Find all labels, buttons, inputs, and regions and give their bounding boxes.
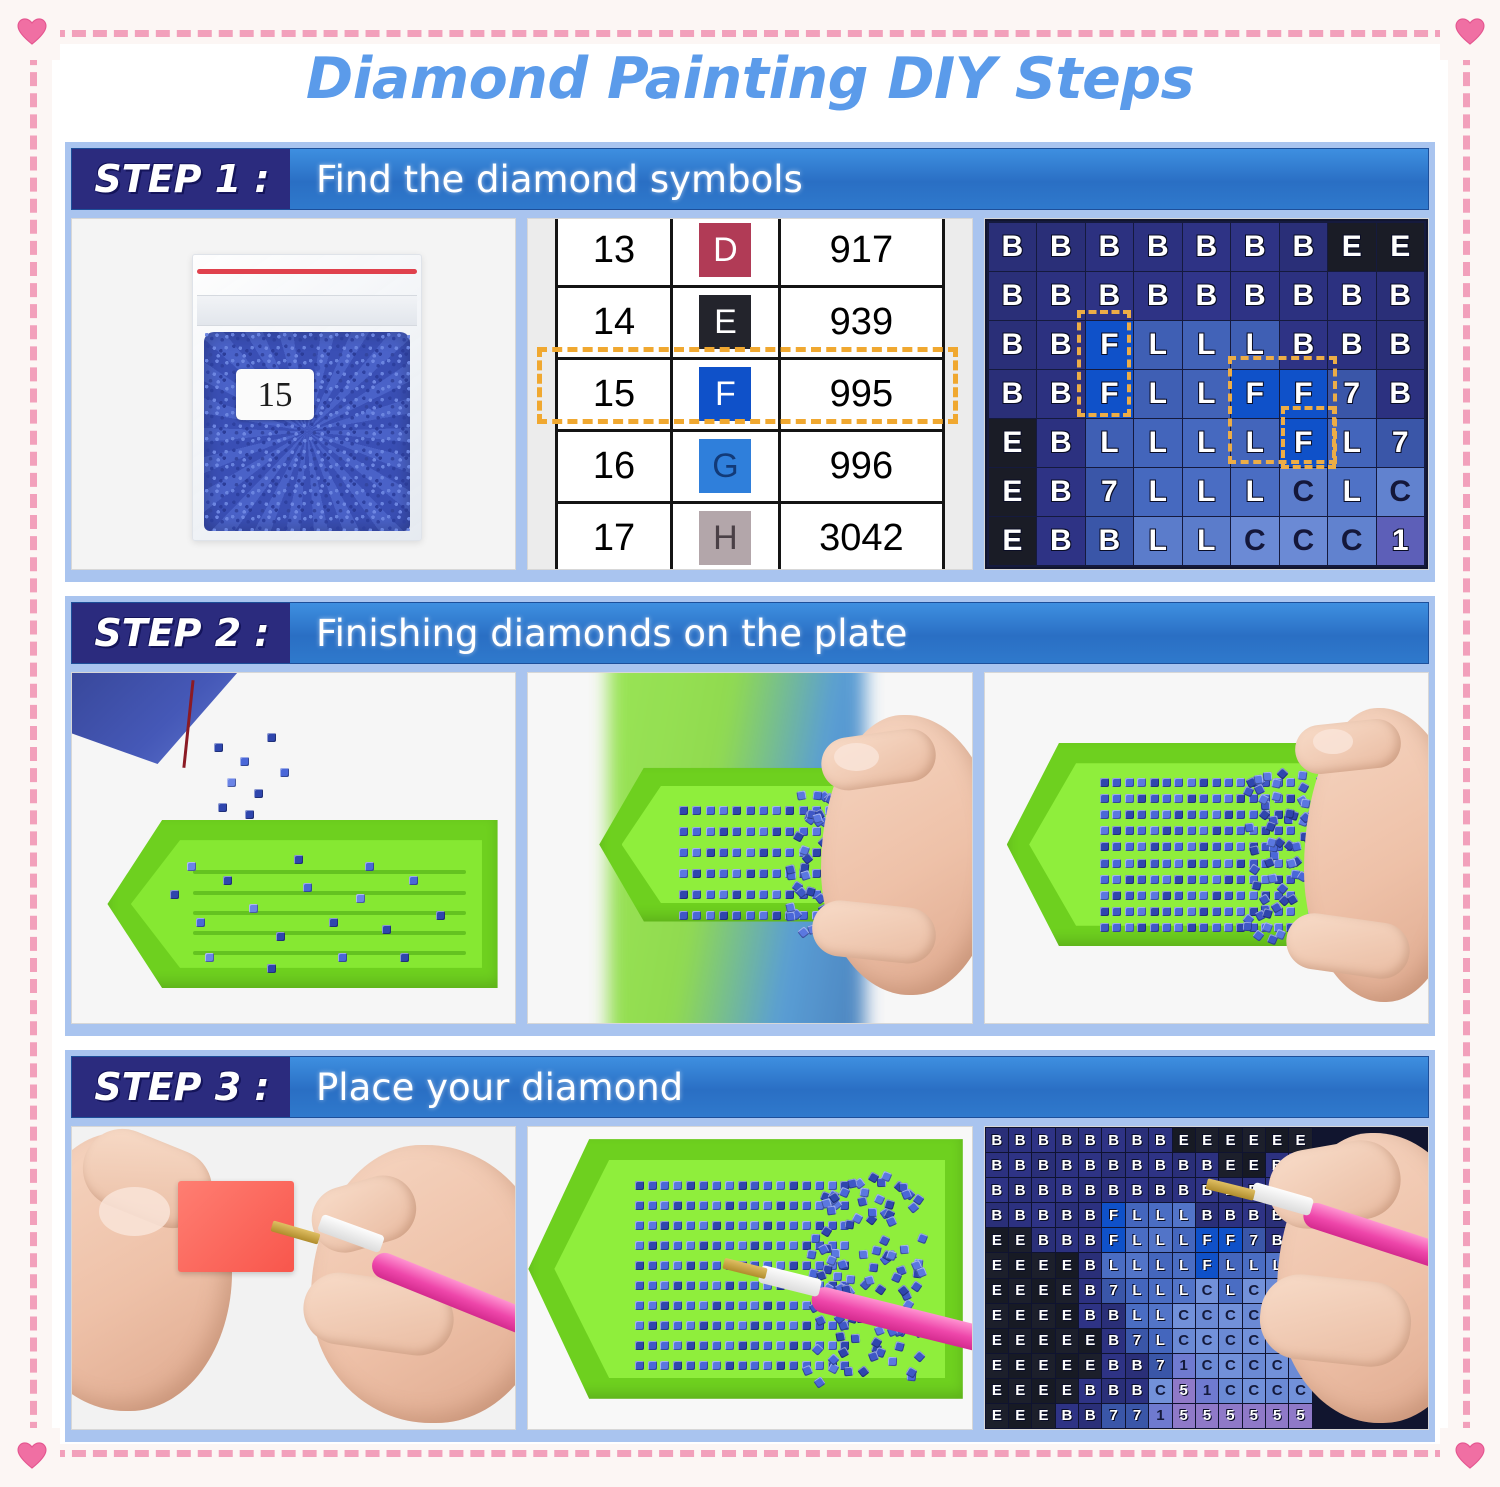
diamond-bead [1212,842,1221,851]
symbol-chart-photo[interactable]: 13D91714E93915F99516G99617H3042 [527,218,972,570]
diamond-bead [1187,810,1196,819]
step-1-badge: STEP 1 : [72,149,290,209]
diamond-bead [746,890,755,899]
diamond-bead [699,1301,708,1310]
diamond-bead [660,1321,669,1330]
diamond-bead [1112,907,1121,916]
diamond-bead [660,1281,669,1290]
diamond-bead [763,1241,772,1250]
canvas-grid-cell: L [1134,468,1181,516]
diamond-bead [1212,907,1221,916]
step-3-photo-row: BBBBBBBBEEEEEEBBBBBBBBBBEEBBBBBBBBBBBBBB… [71,1126,1429,1430]
diamond-bead [660,1181,669,1190]
diamond-bead [1286,794,1295,803]
diamond-bead [1254,774,1264,784]
diamond-bead [673,1181,682,1190]
canvas-grid-cell: 7 [1328,370,1375,418]
diamond-bead [699,1181,708,1190]
canvas-grid-cell: L [1183,517,1230,565]
diamond-bead [750,1201,759,1210]
diamond-bead [750,1361,759,1370]
diamond-bead [828,1341,837,1350]
diamond-bead [673,1321,682,1330]
diamond-bead [699,1221,708,1230]
diamond-bead [706,869,715,878]
diamond-bead [776,1301,785,1310]
diamond-bead [1100,875,1109,884]
diamond-bead [1150,891,1159,900]
diamond-bead [732,869,741,878]
step-1-title: Find the diamond symbols [290,149,803,209]
content-area: Diamond Painting DIY Steps STEP 1 : Find… [52,44,1448,1444]
diamond-bead [1297,771,1307,781]
diamond-bead [1100,778,1109,787]
chart-row-code: 3042 [781,517,942,560]
diamond-bead [1187,875,1196,884]
diamond-bead [1112,826,1121,835]
canvas-grid-cell: E [1377,223,1424,271]
diamond-bead [1150,826,1159,835]
diamond-bead [1150,923,1159,932]
diamond-bead [1212,891,1221,900]
diamond-bead [1112,891,1121,900]
diamond-bead [1212,875,1221,884]
diamond-bead [746,869,755,878]
diamond-bead [725,1281,734,1290]
canvas-grid-cell: C [1328,517,1375,565]
diamond-bead [648,1361,657,1370]
canvas-grid-cell: B [1134,223,1181,271]
fingernail [1313,729,1353,754]
diamond-bead [1137,842,1146,851]
diamond-bead [859,1187,869,1197]
diamond-bead [1137,810,1146,819]
diamond-bead [812,869,821,878]
diamond-bead [1212,778,1221,787]
diamond-bead [712,1281,721,1290]
canvas-grid-cell: C [1280,517,1327,565]
diamond-bead [692,911,701,920]
diamond-bead [1125,794,1134,803]
canvas-grid-cell: F [1280,419,1327,467]
canvas-grid-cell: L [1134,370,1181,418]
diamond-bead [1274,826,1283,835]
diamond-bead [679,911,688,920]
diamond-bead [1162,891,1171,900]
diamond-bead [1125,842,1134,851]
canvas-grid-cell: B [989,272,1036,320]
diamond-bead [759,911,768,920]
diamond-bead [833,1272,842,1281]
diamond-bead [1112,923,1121,932]
diamond-bead [719,911,728,920]
diamond-bead [763,1361,772,1370]
diamond-bead [763,1341,772,1350]
diamond-bead [789,1181,798,1190]
diamond-bead [648,1341,657,1350]
diamond-bead [686,1301,695,1310]
diamond-bead [1224,923,1233,932]
chart-row-symbol: G [673,432,781,501]
diamond-bead [1224,842,1233,851]
diamond-bead [679,890,688,899]
step-2-photo-row [71,672,1429,1024]
diamond-bead [763,1181,772,1190]
diamond-bead [1187,907,1196,916]
diamond-bead [785,848,794,857]
diamond-bead [1174,778,1183,787]
diamond-bead [699,1201,708,1210]
diamond-bead [719,848,728,857]
heart-icon-bottom-right [1455,1442,1485,1469]
diamond-bead [1137,907,1146,916]
symbol-chart-table: 13D91714E93915F99516G99617H3042 [555,219,945,569]
diamond-bead [776,1361,785,1370]
diamond-bead [772,848,781,857]
diamond-bead [635,1281,644,1290]
diamond-bead [1242,922,1252,932]
diamond-bead [789,1301,798,1310]
diamond-bead [679,827,688,836]
diamond-bead [772,869,781,878]
canvas-grid-cell: B [1037,468,1084,516]
diamond-bead [1187,891,1196,900]
diamond-bead [750,1341,759,1350]
pickup-diamond-photo[interactable] [527,1126,972,1430]
canvas-grid-cell: B [1280,272,1327,320]
diamond-bead [806,1249,816,1259]
diamond-bead [1125,891,1134,900]
diamond-bead [1100,891,1109,900]
canvas-grid-cell: L [1183,321,1230,369]
diamond-bead [835,1331,845,1341]
diamond-bead [1224,778,1233,787]
chart-row-number: 15 [558,360,673,429]
diamond-bead [648,1321,657,1330]
diamond-bead [1174,859,1183,868]
diamond-bead [686,1261,695,1270]
diamond-bead [1174,891,1183,900]
diamond-bead [712,1221,721,1230]
diamond-bead [1212,859,1221,868]
infographic-page: Diamond Painting DIY Steps STEP 1 : Find… [0,0,1500,1487]
diamond-bead [1150,907,1159,916]
diamond-bead [1199,875,1208,884]
canvas-grid-cell: B [1037,517,1084,565]
diamond-bead [759,890,768,899]
canvas-grid-cell: L [1134,419,1181,467]
diamond-bead [899,1245,909,1255]
shake-tray-photo[interactable] [527,672,972,1024]
chart-row: 15F995 [558,360,942,432]
diamond-bead [1224,826,1233,835]
diamond-bead [802,1201,811,1210]
diamond-bead [776,1241,785,1250]
diamond-bead [750,1181,759,1190]
diamond-bead [1125,810,1134,819]
diamond-bead [1100,794,1109,803]
diamond-bead [673,1261,682,1270]
diamond-bead [1291,841,1302,852]
diamond-bead [673,1301,682,1310]
diamond-bead [712,1241,721,1250]
diamond-bead [712,1181,721,1190]
diamond-bead [1187,923,1196,932]
diamond-bead [1125,778,1134,787]
diamond-bead [1236,810,1245,819]
diamond-bead [759,848,768,857]
diamond-bead [802,1341,811,1350]
green-tray [107,820,497,988]
diamond-bead [648,1221,657,1230]
diamond-bead [738,1361,747,1370]
place-diamond-photo[interactable]: BBBBBBBBEEEEEEBBBBBBBBBBEEBBBBBBBBBBBBBB… [984,1126,1429,1430]
diamond-bead [738,1181,747,1190]
diamond-bead [1162,875,1171,884]
diamond-bead [725,1241,734,1250]
page-title: Diamond Painting DIY Steps [52,46,1448,112]
diamond-bead [828,1321,837,1330]
canvas-grid-cell: B [1183,272,1230,320]
diamond-bead [847,1178,858,1189]
canvas-grid-cell: F [1086,370,1133,418]
diamond-bead [785,806,794,815]
diamond-bead [844,1219,854,1229]
diamond-bead [1150,875,1159,884]
diamond-bead [776,1201,785,1210]
diamond-bead [692,827,701,836]
canvas-grid-cell: E [989,468,1036,516]
diamond-bead [796,790,806,800]
diamond-bead [1224,875,1233,884]
diamond-bead [1162,810,1171,819]
diamond-bead [750,1241,759,1250]
diamond-bead [712,1361,721,1370]
chart-row-symbol: D [673,219,781,285]
diamond-bead [1199,891,1208,900]
diamond-bead [1249,810,1258,819]
diamond-bead [1100,907,1109,916]
diamond-bead [686,1321,695,1330]
chart-row-number: 16 [558,432,673,501]
diamond-bead [763,1201,772,1210]
diamond-bead [635,1241,644,1250]
diamond-bead [648,1201,657,1210]
diamond-bead [750,1221,759,1230]
diamond-bead [785,864,796,875]
step-1-header: STEP 1 : Find the diamond symbols [71,148,1429,210]
diamond-bead [811,1234,821,1244]
diamond-bead [699,1321,708,1330]
diamond-bead [738,1321,747,1330]
diamond-bead [1224,907,1233,916]
diamond-bead [719,890,728,899]
diamond-bead [738,1301,747,1310]
diamond-bead [1112,810,1121,819]
fingernail [834,743,878,771]
diamond-bead [1224,810,1233,819]
diamond-bead [725,1321,734,1330]
diamond-bead [1244,823,1254,833]
diamond-bead [686,1361,695,1370]
canvas-grid-cell: B [1377,272,1424,320]
step-3-title: Place your diamond [290,1057,683,1117]
canvas-symbol-grid: BBBBBBBEEBBBBBBBBBBBFLLLBBBBBFLLFF7BEBLL… [987,221,1426,567]
diamond-bead [772,827,781,836]
diamond-bead [1125,907,1134,916]
canvas-grid-cell: L [1328,419,1375,467]
diamond-bead [1150,794,1159,803]
diamond-bead [763,1321,772,1330]
diamond-bead [850,1334,860,1344]
canvas-grid-cell: B [1037,223,1084,271]
diamond-bead [725,1221,734,1230]
diamond-bead [686,1281,695,1290]
chart-row-symbol: F [673,360,781,429]
diamond-bead [719,827,728,836]
aligned-diamonds-photo[interactable] [984,672,1429,1024]
diamond-bead [635,1361,644,1370]
diamond-bead [844,1366,854,1376]
diamond-bead [840,1241,849,1250]
canvas-grid-cell: B [1328,321,1375,369]
diamond-bead [802,1221,811,1230]
diamond-bead [738,1221,747,1230]
diamond-bead [802,1321,811,1330]
diamond-bead [1150,778,1159,787]
diamond-bead [1112,794,1121,803]
diamond-bead [1284,808,1294,818]
diamond-bead [706,848,715,857]
step-2-badge: STEP 2 : [72,603,290,663]
diamond-bead [746,806,755,815]
diamond-bead [789,1261,798,1270]
diamond-bead [1263,772,1273,782]
canvas-grid-cell: E [1328,223,1375,271]
diamond-bead [1187,778,1196,787]
diamond-bead [673,1201,682,1210]
chart-row-number: 13 [558,219,673,285]
diamond-bead [1137,923,1146,932]
diamond-bead [712,1301,721,1310]
canvas-grid-cell: B [1037,272,1084,320]
diamond-bead [679,848,688,857]
diamond-bead [1199,907,1208,916]
diamond-bead [1224,794,1233,803]
canvas-grid-photo[interactable]: BBBBBBBEEBBBBBBBBBBBFLLLBBBBBFLLFF7BEBLL… [984,218,1429,570]
diamond-bead [846,1275,856,1285]
diamond-bead [635,1181,644,1190]
diamond-bead [635,1301,644,1310]
diamond-bead [789,1341,798,1350]
diamond-bead [1162,842,1171,851]
diamond-bead [1236,875,1245,884]
chart-row-number: 14 [558,288,673,357]
step-panel-2: STEP 2 : Finishing diamonds on the plate [65,596,1435,1036]
diamond-bead [1212,794,1221,803]
diamond-bead [648,1301,657,1310]
diamond-bead [1224,859,1233,868]
diamond-bead [1112,778,1121,787]
step-2-title: Finishing diamonds on the plate [290,603,907,663]
canvas-grid-cell: B [1231,223,1278,271]
canvas-grid-cell: B [1086,517,1133,565]
diamond-bead [763,1221,772,1230]
diamond-bead [776,1221,785,1230]
diamond-bead [673,1281,682,1290]
diamond-bead [1137,794,1146,803]
diamond-bead [789,1241,798,1250]
pen-nib [1206,1179,1256,1201]
wax-pen-photo[interactable] [71,1126,516,1430]
diamond-bead [1224,891,1233,900]
diamond-bead [732,911,741,920]
diamond-bead [746,911,755,920]
diamond-bead [786,911,796,921]
diamond-bead [725,1201,734,1210]
diamond-bead [673,1361,682,1370]
diamond-bead [802,1181,811,1190]
diamond-bead [789,1201,798,1210]
canvas-grid-cell: C [1377,468,1424,516]
diamond-bead [648,1261,657,1270]
diamond-bag-photo[interactable]: 15 [71,218,516,570]
diamond-bead [660,1341,669,1350]
diamond-bead [686,1201,695,1210]
canvas-grid-cell: B [1231,272,1278,320]
fingernail [99,1187,170,1235]
diamond-bead [660,1221,669,1230]
canvas-grid-cell: B [1134,272,1181,320]
heart-icon-top-left [17,18,47,45]
diamond-bead [772,806,781,815]
diamond-bead [699,1281,708,1290]
diamond-bead [686,1241,695,1250]
diamond-bead [1199,794,1208,803]
diamond-bead [725,1341,734,1350]
canvas-grid-cell: 1 [1377,517,1424,565]
diamond-bead [772,890,781,899]
canvas-grid-cell: 7 [1086,468,1133,516]
canvas-grid-cell: L [1086,419,1133,467]
canvas-grid-cell: B [1183,223,1230,271]
diamond-bead [1187,842,1196,851]
chart-row: 17H3042 [558,504,942,570]
canvas-grid-cell: L [1183,370,1230,418]
diamond-bead [1162,794,1171,803]
diamond-bead [1174,826,1183,835]
diamond-bead [1137,778,1146,787]
pour-diamonds-photo[interactable] [71,672,516,1024]
diamond-bead [660,1241,669,1250]
diamond-bead [1199,810,1208,819]
diamond-bead [1251,880,1262,891]
diamond-bead [763,1301,772,1310]
canvas-grid-cell: F [1086,321,1133,369]
diamond-bead [725,1181,734,1190]
step-2-header: STEP 2 : Finishing diamonds on the plate [71,602,1429,664]
diamond-bead [1236,794,1245,803]
chart-row-symbol: E [673,288,781,357]
diamond-bead [648,1181,657,1190]
canvas-grid-cell: L [1134,321,1181,369]
diamond-bead [1236,859,1245,868]
diamond-bead [1137,859,1146,868]
diamond-bead [673,1221,682,1230]
chart-row-code: 917 [781,229,942,272]
diamond-bead [759,806,768,815]
diamond-bead [1162,778,1171,787]
